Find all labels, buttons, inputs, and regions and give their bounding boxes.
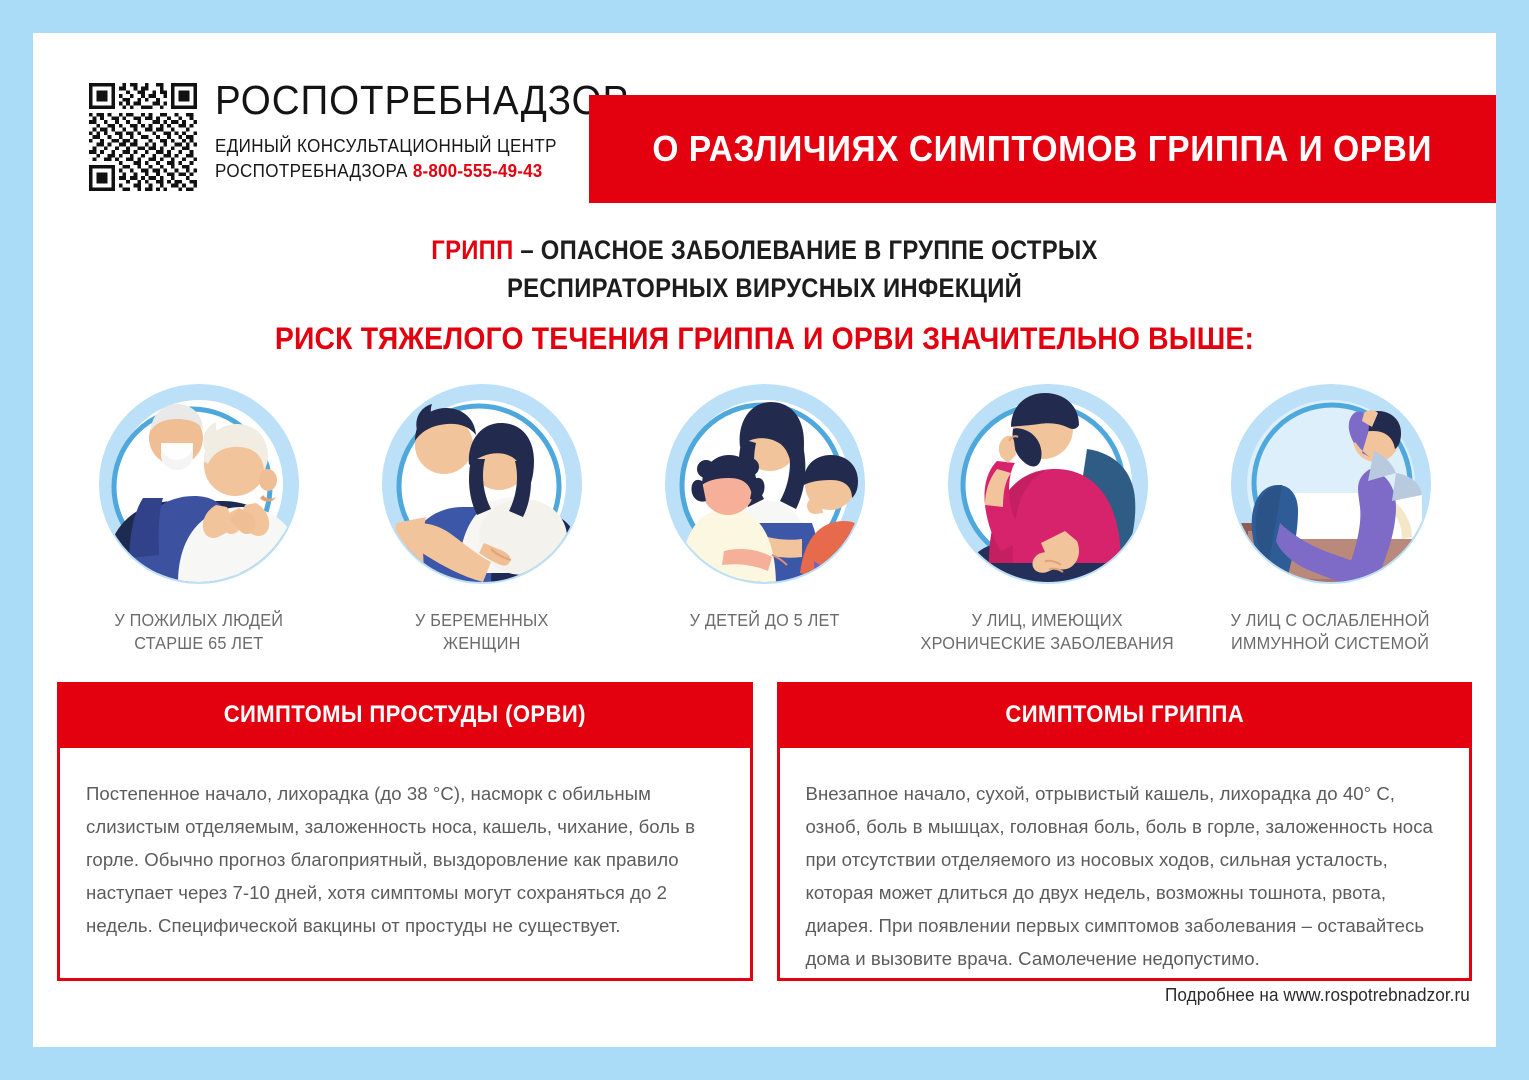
caption-line-1: У ПОЖИЛЫХ ЛЮДЕЙ — [114, 609, 283, 632]
footer-link[interactable]: Подробнее на www.rospotrebnadzor.ru — [1165, 985, 1470, 1006]
risk-group-children: У ДЕТЕЙ ДО 5 ЛЕТ — [623, 373, 906, 693]
pregnant-woman-illustration — [371, 373, 593, 595]
banner-title: О РАЗЛИЧИЯХ СИМПТОМОВ ГРИППА И ОРВИ — [653, 128, 1433, 170]
group-caption: У ПОЖИЛЫХ ЛЮДЕЙ СТАРШЕ 65 ЛЕТ — [114, 609, 283, 655]
group-caption: У ЛИЦ, ИМЕЮЩИХ ХРОНИЧЕСКИЕ ЗАБОЛЕВАНИЯ — [921, 609, 1174, 655]
caption-line-1: У БЕРЕМЕННЫХ — [415, 609, 549, 632]
group-caption: У ЛИЦ С ОСЛАБЛЕННОЙ ИММУННОЙ СИСТЕМОЙ — [1231, 609, 1430, 655]
consult-center-line: ЕДИНЫЙ КОНСУЛЬТАЦИОННЫЙ ЦЕНТР — [215, 135, 557, 156]
panel-title: СИМПТОМЫ ПРОСТУДЫ (ОРВИ) — [224, 701, 586, 729]
hotline-phone[interactable]: 8-800-555-49-43 — [413, 160, 543, 181]
risk-groups-row: У ПОЖИЛЫХ ЛЮДЕЙ СТАРШЕ 65 ЛЕТ — [57, 373, 1472, 693]
rospotrebnadzor-line: РОСПОТРЕБНАДЗОРА — [215, 160, 408, 181]
panel-body: Внезапное начало, сухой, отрывистый каше… — [777, 748, 1473, 981]
elderly-couple-illustration — [88, 373, 310, 595]
risk-group-pregnant: У БЕРЕМЕННЫХ ЖЕНЩИН — [340, 373, 623, 693]
panel-flu-symptoms: СИМПТОМЫ ГРИППА Внезапное начало, сухой,… — [777, 682, 1473, 981]
lead-line-2: РЕСПИРАТОРНЫХ ВИРУСНЫХ ИНФЕКЦИЙ — [106, 269, 1423, 307]
title-banner: О РАЗЛИЧИЯХ СИМПТОМОВ ГРИППА И ОРВИ — [589, 95, 1496, 203]
poster-header: РОСПОТРЕБНАДЗОР ЕДИНЫЙ КОНСУЛЬТАЦИОННЫЙ … — [33, 33, 1496, 193]
poster-canvas: РОСПОТРЕБНАДЗОР ЕДИНЫЙ КОНСУЛЬТАЦИОННЫЙ … — [33, 33, 1496, 1047]
risk-group-chronic: У ЛИЦ, ИМЕЮЩИХ ХРОНИЧЕСКИЕ ЗАБОЛЕВАНИЯ — [906, 373, 1189, 693]
caption-line-1: У ДЕТЕЙ ДО 5 ЛЕТ — [690, 609, 840, 632]
symptoms-panels: СИМПТОМЫ ПРОСТУДЫ (ОРВИ) Постепенное нач… — [57, 682, 1472, 981]
panel-text: Внезапное начало, сухой, отрывистый каше… — [806, 777, 1444, 975]
caption-line-1: У ЛИЦ, ИМЕЮЩИХ — [921, 609, 1174, 632]
panel-text: Постепенное начало, лихорадка (до 38 °C)… — [86, 777, 724, 942]
panel-title: СИМПТОМЫ ГРИППА — [1005, 701, 1244, 729]
caption-line-1: У ЛИЦ С ОСЛАБЛЕННОЙ — [1231, 609, 1430, 632]
group-caption: У ДЕТЕЙ ДО 5 ЛЕТ — [690, 609, 840, 632]
weak-immunity-man-illustration — [1220, 373, 1442, 595]
panel-cold-symptoms: СИМПТОМЫ ПРОСТУДЫ (ОРВИ) Постепенное нач… — [57, 682, 753, 981]
risk-group-weak-immunity: У ЛИЦ С ОСЛАБЛЕННОЙ ИММУННОЙ СИСТЕМОЙ — [1189, 373, 1472, 693]
panel-header: СИМПТОМЫ ГРИППА — [777, 682, 1473, 748]
lead-text: ГРИПП – ОПАСНОЕ ЗАБОЛЕВАНИЕ В ГРУППЕ ОСТ… — [33, 231, 1496, 307]
lead-highlight: ГРИПП — [431, 235, 513, 265]
mother-with-children-illustration — [654, 373, 876, 595]
qr-code-icon — [89, 83, 197, 191]
risk-heading: РИСК ТЯЖЕЛОГО ТЕЧЕНИЯ ГРИППА И ОРВИ ЗНАЧ… — [106, 320, 1423, 357]
panel-header: СИМПТОМЫ ПРОСТУДЫ (ОРВИ) — [57, 682, 753, 748]
lead-line-1-rest: – ОПАСНОЕ ЗАБОЛЕВАНИЕ В ГРУППЕ ОСТРЫХ — [513, 235, 1097, 265]
caption-line-2: ИММУННОЙ СИСТЕМОЙ — [1231, 632, 1430, 655]
risk-group-elderly: У ПОЖИЛЫХ ЛЮДЕЙ СТАРШЕ 65 ЛЕТ — [57, 373, 340, 693]
lead-line-1: ГРИПП – ОПАСНОЕ ЗАБОЛЕВАНИЕ В ГРУППЕ ОСТ… — [106, 231, 1423, 269]
group-caption: У БЕРЕМЕННЫХ ЖЕНЩИН — [415, 609, 549, 655]
caption-line-2: ХРОНИЧЕСКИЕ ЗАБОЛЕВАНИЯ — [921, 632, 1174, 655]
brand-subtitle: ЕДИНЫЙ КОНСУЛЬТАЦИОННЫЙ ЦЕНТР РОСПОТРЕБН… — [215, 133, 620, 183]
panel-body: Постепенное начало, лихорадка (до 38 °C)… — [57, 748, 753, 981]
caption-line-2: СТАРШЕ 65 ЛЕТ — [114, 632, 283, 655]
caption-line-2: ЖЕНЩИН — [415, 632, 549, 655]
sick-man-chronic-illustration — [937, 373, 1159, 595]
brand-title: РОСПОТРЕБНАДЗОР — [215, 76, 629, 124]
